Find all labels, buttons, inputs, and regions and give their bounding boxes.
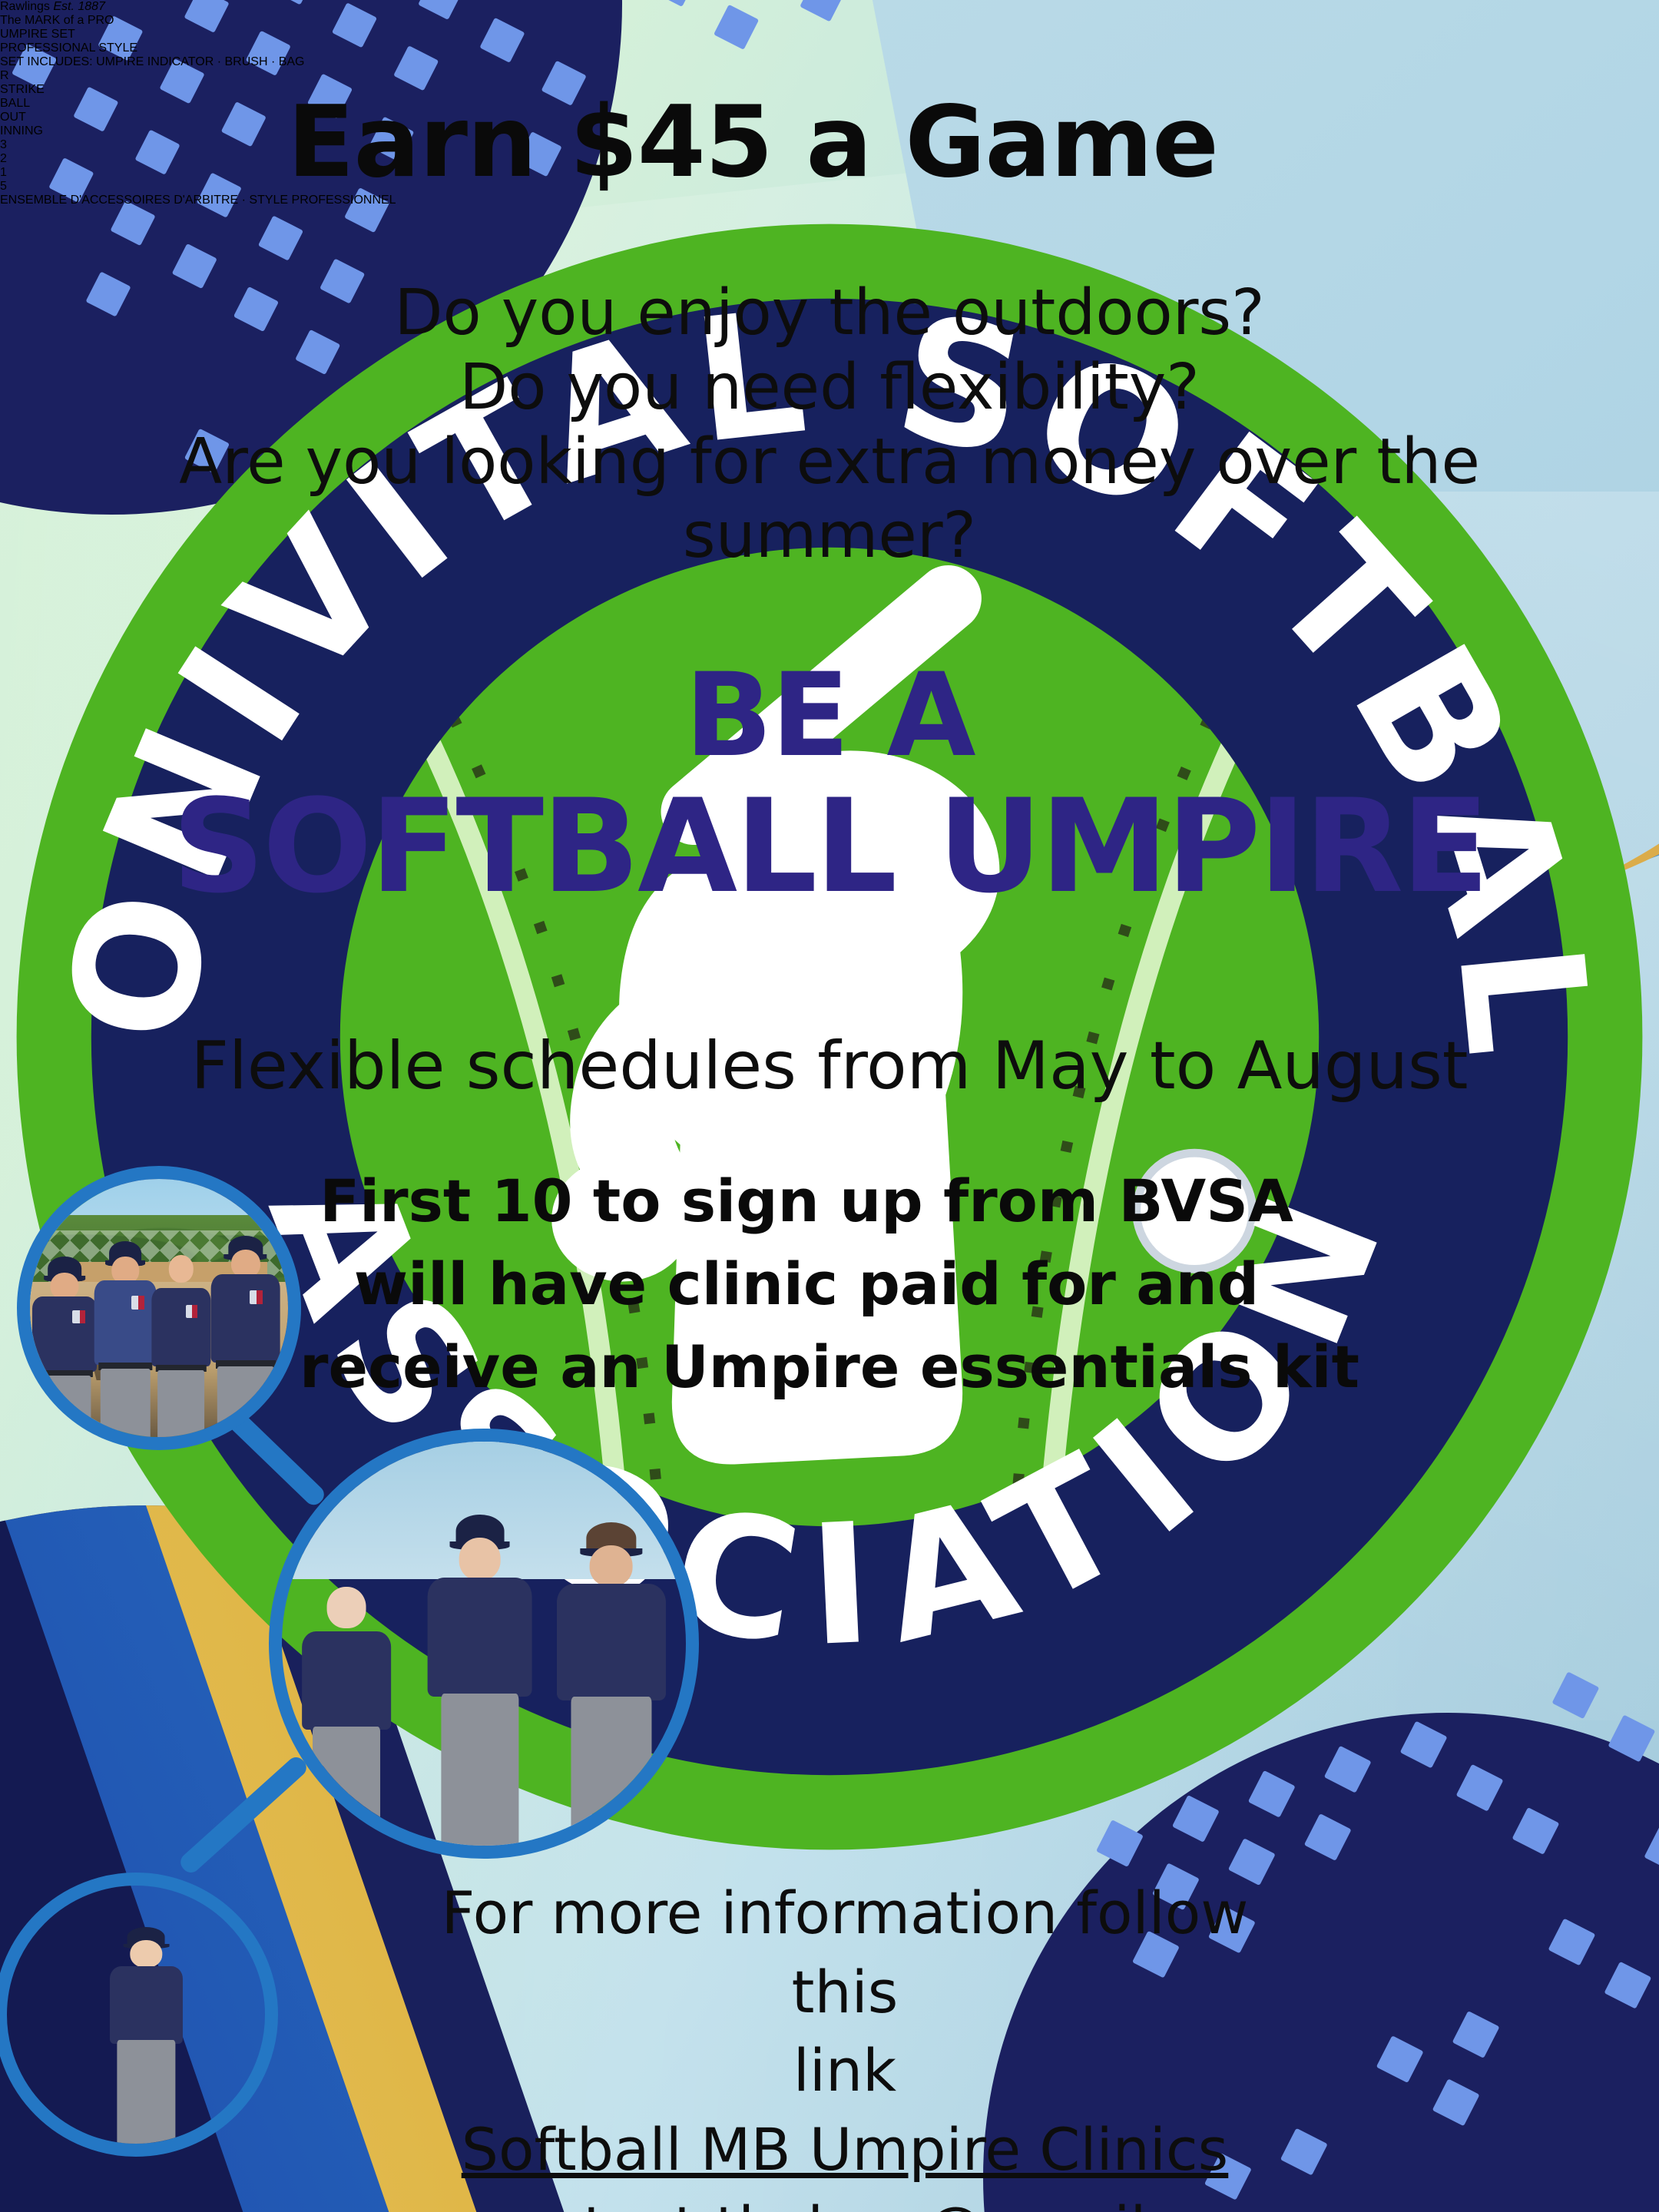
footer-line-2: link — [384, 2032, 1306, 2111]
rawlings-est-text: Est. 1887 — [53, 0, 105, 13]
cta-line-1: BE A — [0, 657, 1659, 776]
young-umpire-on-field-photo — [0, 1873, 278, 2157]
promo-offer: First 10 to sign up from BVSA will have … — [300, 1160, 1313, 1409]
intro-questions: Do you enjoy the outdoors? Do you need f… — [115, 276, 1544, 574]
question-3: Are you looking for extra money over the… — [115, 426, 1544, 575]
cta-line-2: SOFTBALL UMPIRE — [0, 780, 1659, 913]
rawlings-brand-logo: Rawlings Est. 1887 — [0, 0, 1659, 14]
footer-contact: For more information follow this link So… — [384, 1874, 1306, 2212]
footer-contact-email: or contact tkuleza@gmail.com — [384, 2189, 1306, 2212]
promo-line-1: First 10 to sign up from BVSA — [300, 1160, 1313, 1243]
question-2: Do you need flexibility? — [115, 351, 1544, 426]
rawlings-tagline: The MARK of a PRO — [0, 14, 1659, 28]
main-call-to-action: BE A SOFTBALL UMPIRE — [0, 657, 1659, 913]
schedule-note: Flexible schedules from May to August — [0, 1028, 1659, 1104]
promo-line-3: receive an Umpire essentials kit — [300, 1326, 1313, 1409]
product-includes-text: SET INCLUDES: UMPIRE INDICATOR · BRUSH ·… — [0, 55, 1659, 69]
rawlings-r-mark: R — [0, 69, 1659, 83]
three-umpires-behind-fence-photo — [269, 1429, 699, 1859]
umpire-brush-icon: R — [0, 69, 1659, 83]
product-title: UMPIRE SET — [0, 28, 1659, 41]
page-title: Earn $45 a Game — [0, 94, 1659, 192]
product-title-band: UMPIRE SET PROFESSIONAL STYLE — [0, 28, 1659, 55]
promo-line-2: will have clinic paid for and — [300, 1243, 1313, 1326]
poster-canvas: Earn $45 a Game Do you enjoy the outdoor… — [0, 0, 1659, 2212]
footer-line-1: For more information follow this — [384, 1874, 1306, 2032]
question-1: Do you enjoy the outdoors? — [115, 276, 1544, 351]
umpire-clinics-link[interactable]: Softball MB Umpire Clinics — [462, 2111, 1229, 2190]
four-umpires-navy-uniforms-photo — [17, 1166, 301, 1450]
rawlings-wordmark: Rawlings — [0, 0, 50, 13]
product-subtitle: PROFESSIONAL STYLE — [0, 41, 1659, 55]
